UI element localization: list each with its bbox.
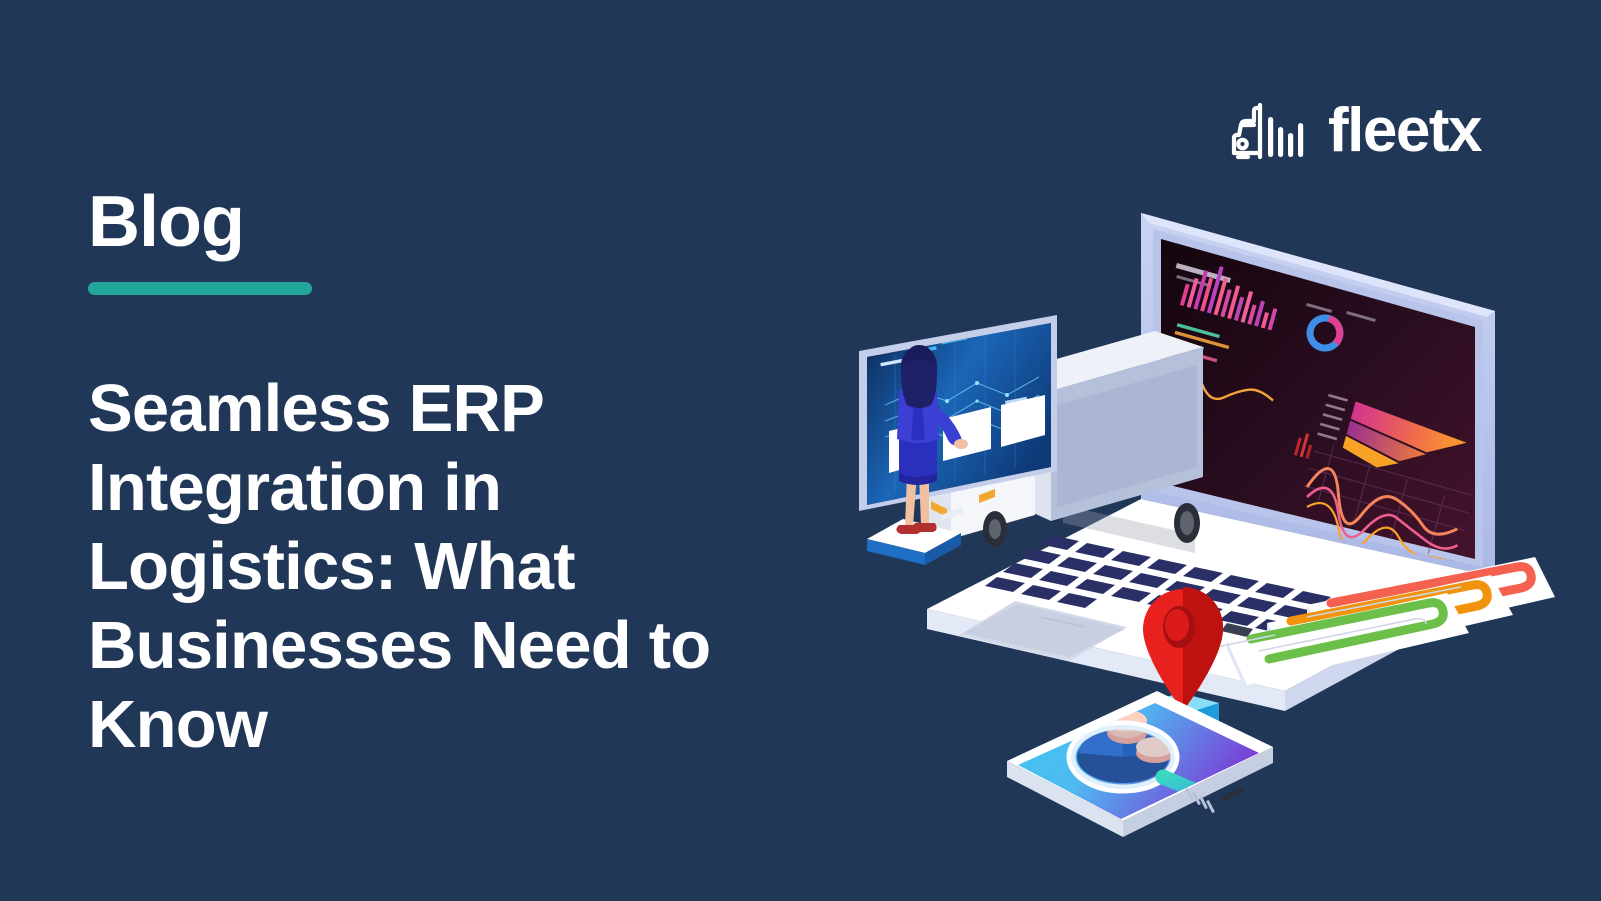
text-column: Blog Seamless ERP Integration in Logisti… <box>88 186 728 764</box>
isometric-erp-logistics-illustration <box>855 205 1555 855</box>
smartphone <box>1007 691 1273 837</box>
brand-wordmark: fleetx <box>1328 100 1481 162</box>
truck-rear-wheel <box>1174 503 1200 543</box>
truck-bars-logo-icon <box>1226 99 1312 163</box>
blog-banner: fleetx Blog Seamless ERP Integration in … <box>0 0 1601 901</box>
kicker-label: Blog <box>88 186 728 258</box>
brand-logo: fleetx <box>1226 96 1481 166</box>
truck-front-wheel <box>983 511 1007 547</box>
kicker-underline <box>88 282 312 295</box>
page-title: Seamless ERP Integration in Logistics: W… <box>88 369 728 764</box>
